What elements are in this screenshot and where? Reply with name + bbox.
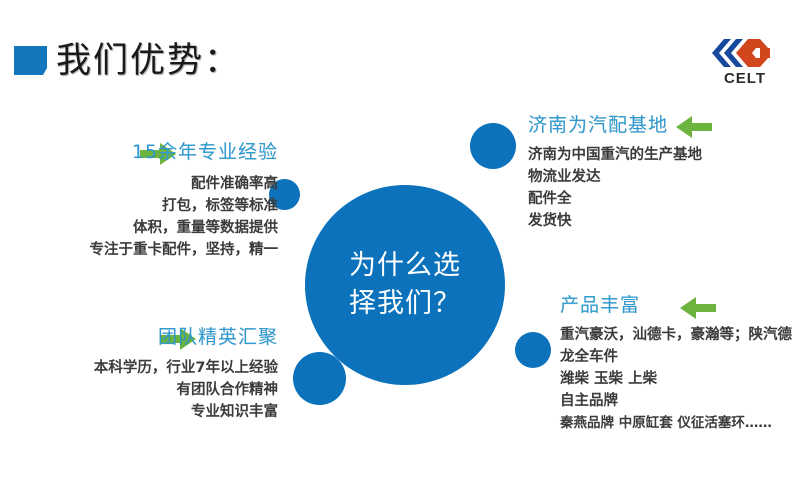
feature-team-line-1: 本科学历，行业7年以上经验 (10, 357, 278, 379)
arrow-left-icon (676, 115, 712, 139)
feature-products-body: 重汽豪沃，汕德卡，豪瀚等；陕汽德龙全车件 潍柴 玉柴 上柴 自主品牌 秦燕品牌 … (560, 324, 798, 434)
accent-circle-bottom-right (515, 332, 551, 368)
feature-products-line-2: 潍柴 玉柴 上柴 (560, 368, 798, 390)
feature-experience-line-2: 打包，标签等标准 (0, 195, 278, 217)
accent-circle-top-right (470, 123, 516, 169)
feature-jinan-base-line-4: 发货快 (528, 210, 800, 232)
title-marker-shape (14, 46, 47, 75)
celt-logo: CELT (704, 36, 786, 90)
feature-products-line-3: 自主品牌 (560, 390, 798, 412)
feature-jinan-base-line-3: 配件全 (528, 188, 800, 210)
feature-jinan-base-body: 济南为中国重汽的生产基地 物流业发达 配件全 发货快 (528, 144, 800, 232)
feature-jinan-base-heading: 济南为汽配基地 (528, 113, 668, 137)
feature-team-heading: 团队精英汇聚 (158, 325, 278, 349)
feature-team-line-2: 有团队合作精神 (10, 379, 278, 401)
feature-jinan-base-line-2: 物流业发达 (528, 166, 800, 188)
celt-logo-mark (704, 36, 786, 70)
center-circle (305, 185, 505, 385)
feature-experience-line-1: 配件准确率高 (0, 173, 278, 195)
slide-title-bar: 我们优势： (0, 36, 800, 88)
arrow-left-icon (680, 296, 716, 320)
celt-logo-wordmark: CELT (704, 70, 786, 87)
feature-products-line-1: 重汽豪沃，汕德卡，豪瀚等；陕汽德龙全车件 (560, 324, 798, 368)
slide-canvas: 我们优势： CELT 为什么选 择我们？ (0, 0, 800, 480)
feature-team-line-3: 专业知识丰富 (10, 401, 278, 423)
feature-products-heading: 产品丰富 (560, 293, 640, 317)
page-title: 我们优势： (56, 36, 241, 86)
accent-circle-bottom-left (293, 352, 346, 405)
feature-experience-line-3: 体积，重量等数据提供 (0, 217, 278, 239)
feature-experience-line-4: 专注于重卡配件，坚持，精一 (0, 239, 278, 261)
feature-experience-heading: 15余年专业经验 (132, 140, 278, 164)
feature-products-line-4: 秦燕品牌 中原缸套 仪征活塞环…… (560, 412, 798, 434)
feature-team-body: 本科学历，行业7年以上经验 有团队合作精神 专业知识丰富 (10, 357, 278, 423)
feature-jinan-base-line-1: 济南为中国重汽的生产基地 (528, 144, 800, 166)
feature-experience-body: 配件准确率高 打包，标签等标准 体积，重量等数据提供 专注于重卡配件，坚持，精一 (0, 173, 278, 261)
